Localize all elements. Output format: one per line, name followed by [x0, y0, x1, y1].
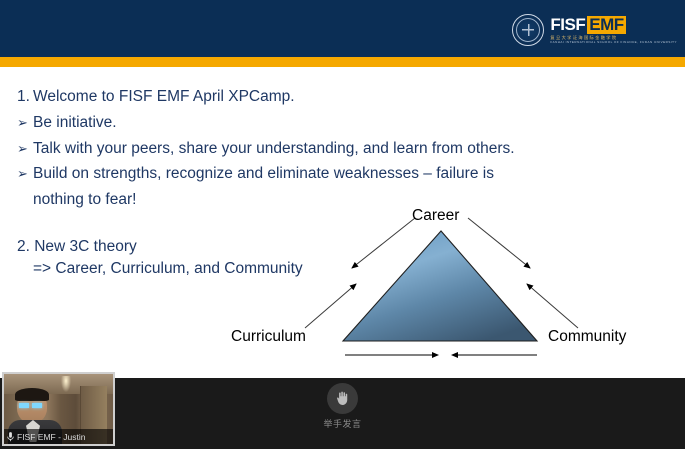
bullet-arrow-icon: ➢	[17, 163, 33, 185]
slide-gold-stripe	[0, 57, 685, 67]
bullet-arrow-icon: ➢	[17, 112, 33, 134]
participant-hair	[15, 388, 49, 401]
bullet-line-1: 1. Welcome to FISF EMF April XPCamp.	[17, 86, 597, 109]
bullet-text: Talk with your peers, share your underst…	[33, 138, 597, 161]
logo-wordmark: FISF EMF 复旦大学泛海国际金融学院 FANHAI INTERNATION…	[550, 16, 677, 44]
bullet-line-2: ➢ Be initiative.	[17, 112, 597, 135]
logo-main-text: FISF EMF	[550, 16, 677, 34]
microphone-icon	[7, 432, 14, 442]
three-c-triangle-diagram: Career Curriculum Community	[210, 200, 685, 370]
logo-fisf-text: FISF	[550, 16, 585, 33]
arrow-career-to-curriculum	[352, 218, 415, 268]
diagram-label-community: Community	[548, 328, 626, 346]
raise-hand-button[interactable]: 举手发言	[323, 383, 361, 430]
zoom-meeting-toolbar: 举手发言 FISF EMF - Justin	[0, 378, 685, 449]
bullet-line-3: ➢ Talk with your peers, share your under…	[17, 138, 597, 161]
bullet-marker: 1.	[17, 86, 33, 109]
slide-body-text: 1. Welcome to FISF EMF April XPCamp. ➢ B…	[17, 86, 597, 215]
triangle-shape	[343, 231, 537, 341]
hand-glyph	[334, 390, 351, 407]
arrow-curriculum-to-career	[305, 284, 356, 328]
diagram-label-curriculum: Curriculum	[231, 328, 306, 346]
bullet-text: Welcome to FISF EMF April XPCamp.	[33, 86, 597, 109]
bullet-text: Build on strengths, recognize and elimin…	[33, 163, 597, 186]
participant-name: FISF EMF - Justin	[17, 432, 85, 442]
fisf-emf-logo: FISF EMF 复旦大学泛海国际金融学院 FANHAI INTERNATION…	[512, 13, 677, 47]
arrow-community-to-career	[527, 284, 578, 328]
video-lamp-glow	[61, 376, 71, 392]
bullet-arrow-icon: ➢	[17, 138, 33, 160]
bullet-text: Be initiative.	[33, 112, 597, 135]
glasses-lens-right	[32, 403, 42, 408]
participant-name-bar: FISF EMF - Justin	[4, 429, 113, 444]
glasses-lens-left	[19, 403, 29, 408]
logo-emf-badge: EMF	[587, 16, 625, 34]
raise-hand-label: 举手发言	[323, 417, 361, 430]
raise-hand-icon[interactable]	[327, 383, 358, 414]
diagram-label-career: Career	[412, 207, 459, 225]
self-video-tile[interactable]: FISF EMF - Justin	[2, 372, 115, 446]
bullet-line-4: ➢ Build on strengths, recognize and elim…	[17, 163, 597, 186]
fudan-seal-icon	[512, 14, 544, 46]
logo-chinese-subtitle: 复旦大学泛海国际金融学院	[550, 35, 677, 40]
logo-english-subtitle: FANHAI INTERNATIONAL SCHOOL OF FINANCE, …	[550, 41, 677, 45]
arrow-career-to-community	[468, 218, 530, 268]
